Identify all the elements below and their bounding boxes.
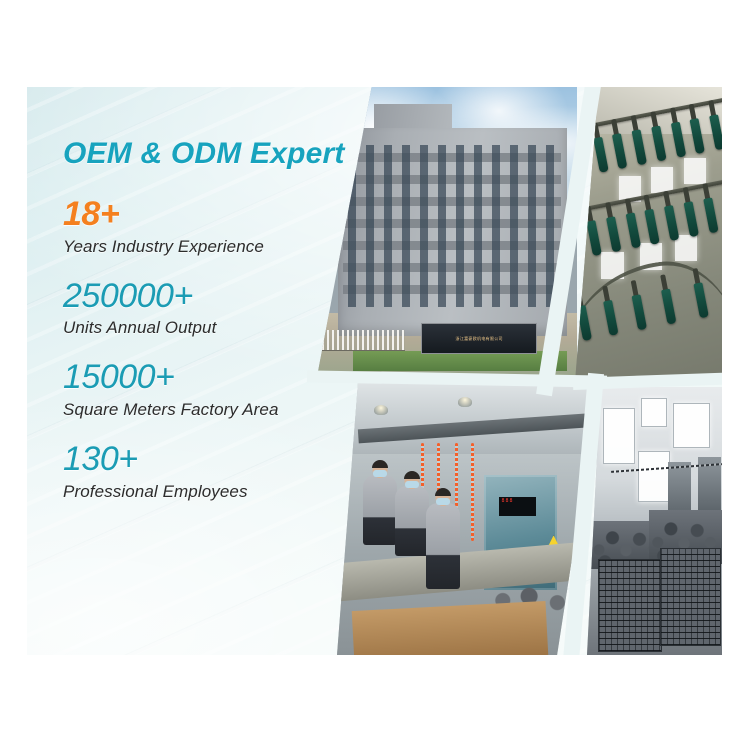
hoist-unit <box>707 99 722 156</box>
stat-block-output: 250000+ Units Annual Output <box>63 279 393 339</box>
hoist-unit <box>681 187 701 244</box>
photo-hoist-wall <box>575 87 722 382</box>
worker-face-mask <box>436 498 450 505</box>
hall-window <box>603 408 635 464</box>
hoist-unit <box>642 194 662 251</box>
hoist-unit <box>600 285 620 342</box>
hall-window <box>638 451 670 501</box>
mesh-bin <box>598 559 662 652</box>
photo-forged-parts <box>587 387 722 655</box>
hoist-unit <box>629 114 649 171</box>
stat-value-employees: 130+ <box>63 442 393 478</box>
statistics-text-column: OEM & ODM Expert 18+ Years Industry Expe… <box>63 139 393 502</box>
hoist-unit <box>661 191 681 248</box>
banner-headline: OEM & ODM Expert <box>63 139 393 169</box>
hoist-unit <box>610 118 630 175</box>
worker-face-mask <box>405 481 419 488</box>
hoist-unit <box>668 107 688 164</box>
readout-digits: 888 <box>499 497 536 504</box>
stat-block-employees: 130+ Professional Employees <box>63 442 393 502</box>
stat-value-years: 18+ <box>63 197 393 233</box>
stat-value-area: 15000+ <box>63 360 393 396</box>
page-canvas: 浙江富豪欧机电有限公司 <box>0 0 750 750</box>
stat-block-area: 15000+ Square Meters Factory Area <box>63 360 393 420</box>
hoist-unit <box>584 206 604 263</box>
mesh-bin <box>660 548 721 646</box>
hoist-unit <box>623 198 643 255</box>
company-signboard: 浙江富豪欧机电有限公司 <box>421 323 537 354</box>
stat-label-employees: Professional Employees <box>63 482 393 502</box>
hoist-unit <box>687 103 707 160</box>
ceiling-lamp <box>458 397 472 407</box>
signboard-chinese-text: 浙江富豪欧机电有限公司 <box>456 336 503 341</box>
worker <box>395 486 429 556</box>
hoist-unit <box>700 183 720 240</box>
stat-value-output: 250000+ <box>63 279 393 315</box>
stat-label-area: Square Meters Factory Area <box>63 400 393 420</box>
hoist-unit <box>575 290 594 347</box>
hoist-unit <box>629 280 649 337</box>
hall-window <box>641 398 667 427</box>
worker <box>426 503 460 589</box>
hoist-unit <box>658 274 678 331</box>
stat-label-output: Units Annual Output <box>63 318 393 338</box>
company-strength-banner: 浙江富豪欧机电有限公司 <box>27 87 722 655</box>
hall-window <box>673 403 710 448</box>
hoist-unit <box>648 111 668 168</box>
coiled-air-hose <box>471 443 474 541</box>
wooden-crate <box>351 601 547 655</box>
stat-label-years: Years Industry Experience <box>63 237 393 257</box>
digital-readout: 888 <box>499 497 536 516</box>
processing-machine <box>668 462 691 516</box>
hoist-unit <box>690 268 710 325</box>
stat-block-years: 18+ Years Industry Experience <box>63 197 393 257</box>
hoist-unit <box>603 202 623 259</box>
